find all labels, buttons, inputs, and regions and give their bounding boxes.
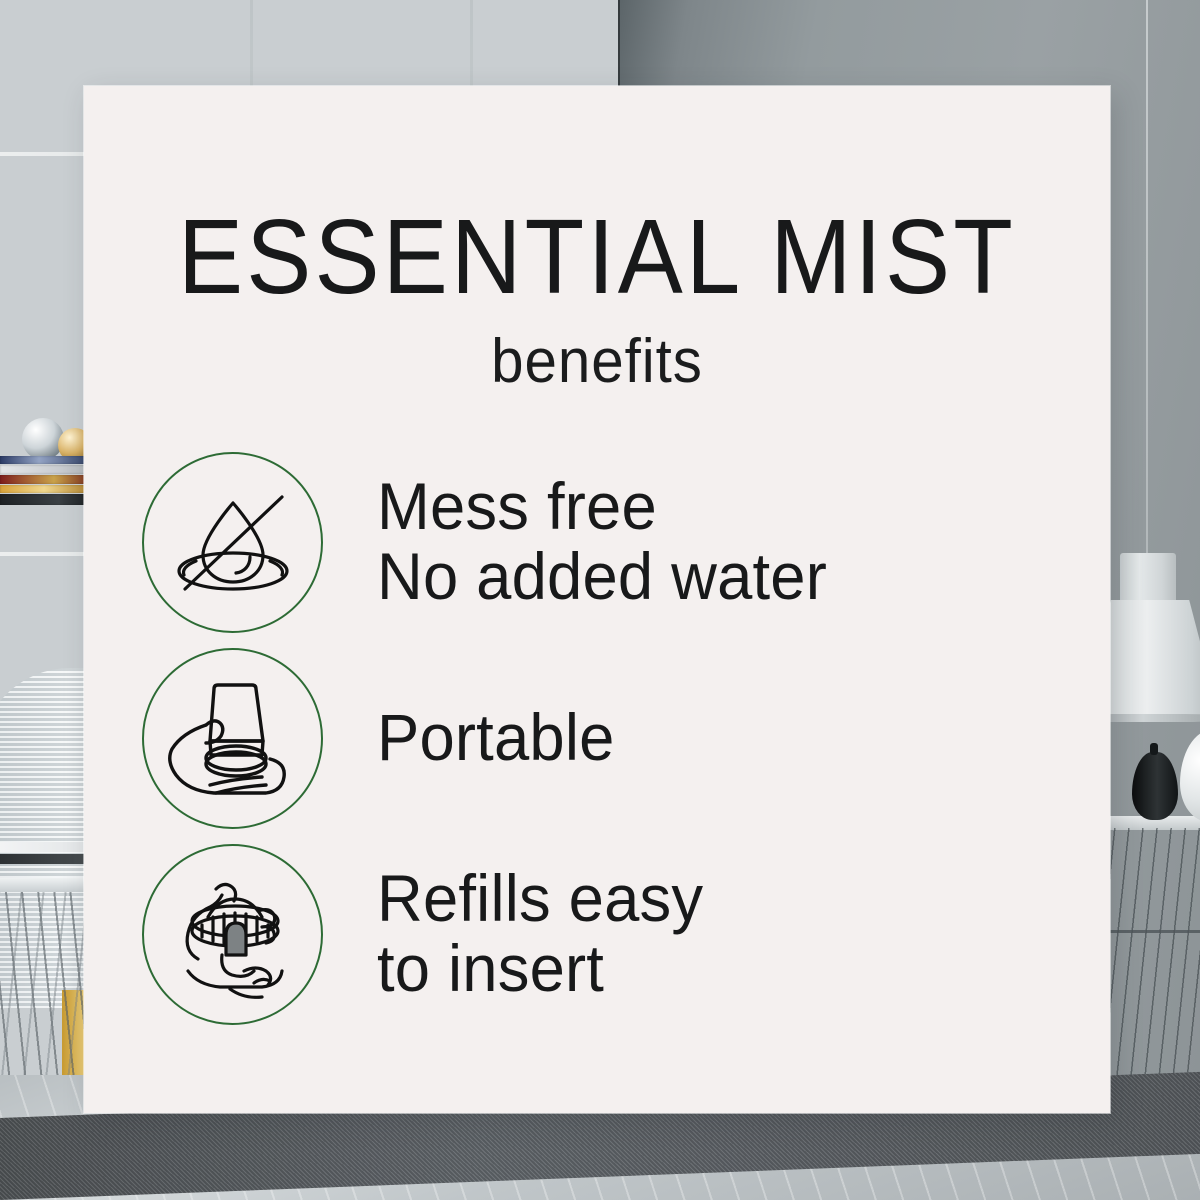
- list-item: Refills easy to insert: [142, 836, 1082, 1032]
- page-subtitle: benefits: [115, 331, 1079, 393]
- pendant-lamp-neck: [1120, 553, 1176, 603]
- benefit-label: Refills easy to insert: [377, 864, 703, 1004]
- black-vase: [1132, 752, 1178, 820]
- list-item: Mess free No added water: [142, 444, 1082, 640]
- pendant-lamp-cord: [1146, 0, 1148, 555]
- list-item: Portable: [142, 640, 1082, 836]
- benefit-label: Portable: [377, 703, 615, 773]
- insert-refill-cartridge-icon: [142, 844, 323, 1025]
- hand-holding-diffuser-icon: [142, 648, 323, 829]
- benefits-panel: ESSENTIAL MIST benefits: [84, 86, 1110, 1113]
- no-water-droplet-icon: [142, 452, 323, 633]
- page-title: ESSENTIAL MIST: [125, 204, 1069, 310]
- silver-sphere-decor: [22, 418, 64, 460]
- benefits-list: Mess free No added water: [142, 444, 1082, 1032]
- benefit-label: Mess free No added water: [377, 472, 827, 612]
- side-table-wire-frame: [1100, 828, 1200, 1078]
- side-table-band: [1100, 930, 1200, 933]
